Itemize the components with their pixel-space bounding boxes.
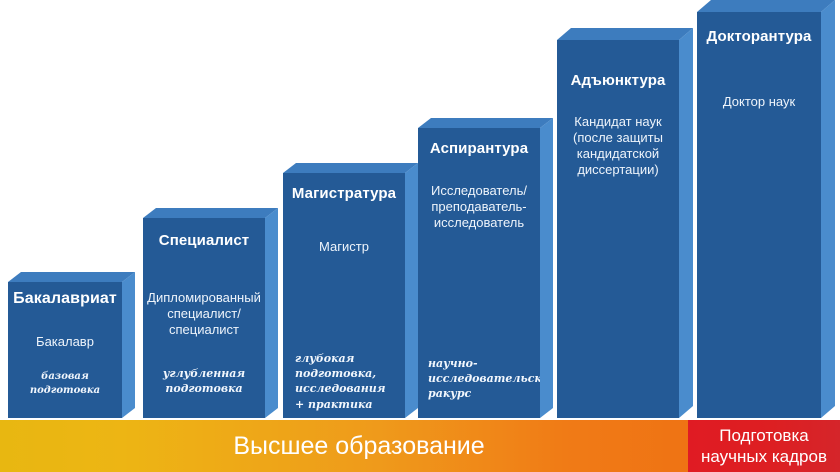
bar-qualification-3: Магистр — [283, 239, 405, 255]
infographic-canvas: Бакалавриат Бакалавр базовая подготовка … — [0, 0, 840, 472]
bar-qualification-1: Бакалавр — [8, 334, 122, 350]
bar-note-1: базовая подготовка — [8, 370, 122, 398]
bar-qualification-5: Кандидат наук (после защиты кандидатской… — [557, 114, 679, 177]
bar-qualification-2: Дипломированный специалист/ специалист — [143, 290, 265, 338]
bar-title-6: Докторантура — [697, 28, 821, 45]
bar-title-4: Аспирантура — [418, 140, 540, 157]
banner-research-training-line1: Подготовка — [719, 425, 808, 446]
banner-higher-education-label: Высшее образование — [233, 434, 484, 459]
bar-note-4: научно- исследовательский ракурс — [418, 356, 540, 402]
banner-higher-education: Высшее образование — [0, 420, 688, 472]
banner-research-training-line2: научных кадров — [701, 446, 827, 467]
bar-title-3: Магистратура — [283, 185, 405, 202]
bar-qualification-4: Исследователь/ преподаватель- исследоват… — [418, 183, 540, 231]
education-level-bar-3[interactable]: Магистратура Магистр глубокая подготовка… — [283, 163, 418, 418]
bar-note-2: углубленная подготовка — [143, 366, 265, 396]
education-level-bar-4[interactable]: Аспирантура Исследователь/ преподаватель… — [418, 118, 553, 418]
education-level-bar-2[interactable]: Специалист Дипломированный специалист/ с… — [143, 208, 278, 418]
bar-note-3: глубокая подготовка, исследования + прак… — [283, 351, 405, 412]
bar-title-2: Специалист — [143, 232, 265, 249]
bar-title-1: Бакалавриат — [8, 290, 122, 308]
bar-qualification-6: Доктор наук — [697, 94, 821, 110]
bar-title-5: Адъюнктура — [557, 72, 679, 89]
banner-research-training: Подготовка научных кадров — [688, 420, 840, 472]
bottom-banner: Высшее образование Подготовка научных ка… — [0, 420, 840, 472]
education-level-bar-1[interactable]: Бакалавриат Бакалавр базовая подготовка — [8, 272, 135, 418]
education-level-bar-5[interactable]: Адъюнктура Кандидат наук (после защиты к… — [557, 28, 693, 418]
education-level-bar-6[interactable]: Докторантура Доктор наук — [697, 0, 835, 418]
